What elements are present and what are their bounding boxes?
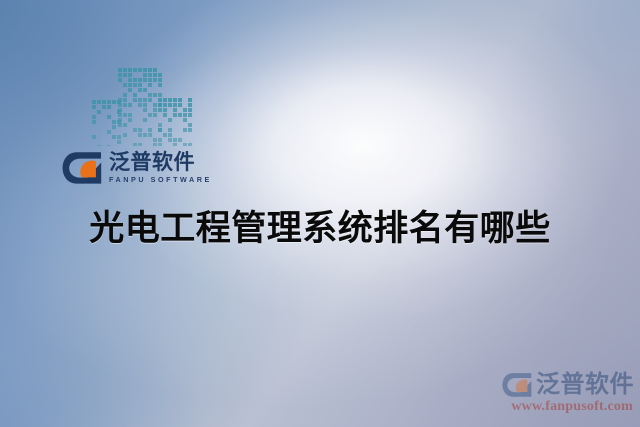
watermark-url: www.fanpusoft.com: [511, 399, 633, 415]
watermark-logo-row: 泛普软件: [502, 372, 634, 398]
promo-banner: 泛普软件 FANPU SOFTWARE 光电工程管理系统排名有哪些 泛普软件 w…: [0, 0, 640, 427]
fanpu-logo-name-cn: 泛普软件: [109, 152, 212, 173]
fanpu-watermark: 泛普软件 www.fanpusoft.com: [502, 372, 634, 415]
watermark-name-cn: 泛普软件: [536, 373, 634, 397]
fanpu-logo: 泛普软件 FANPU SOFTWARE: [62, 151, 212, 185]
pixel-skyline-graphic: [88, 68, 192, 146]
fanpu-logo-wordmark: 泛普软件 FANPU SOFTWARE: [109, 152, 212, 183]
fanpu-logo-mark-icon: [62, 151, 102, 185]
fanpu-logo-name-en: FANPU SOFTWARE: [109, 176, 212, 183]
watermark-logo-mark-icon: [502, 372, 532, 398]
headline-title: 光电工程管理系统排名有哪些: [0, 200, 640, 251]
